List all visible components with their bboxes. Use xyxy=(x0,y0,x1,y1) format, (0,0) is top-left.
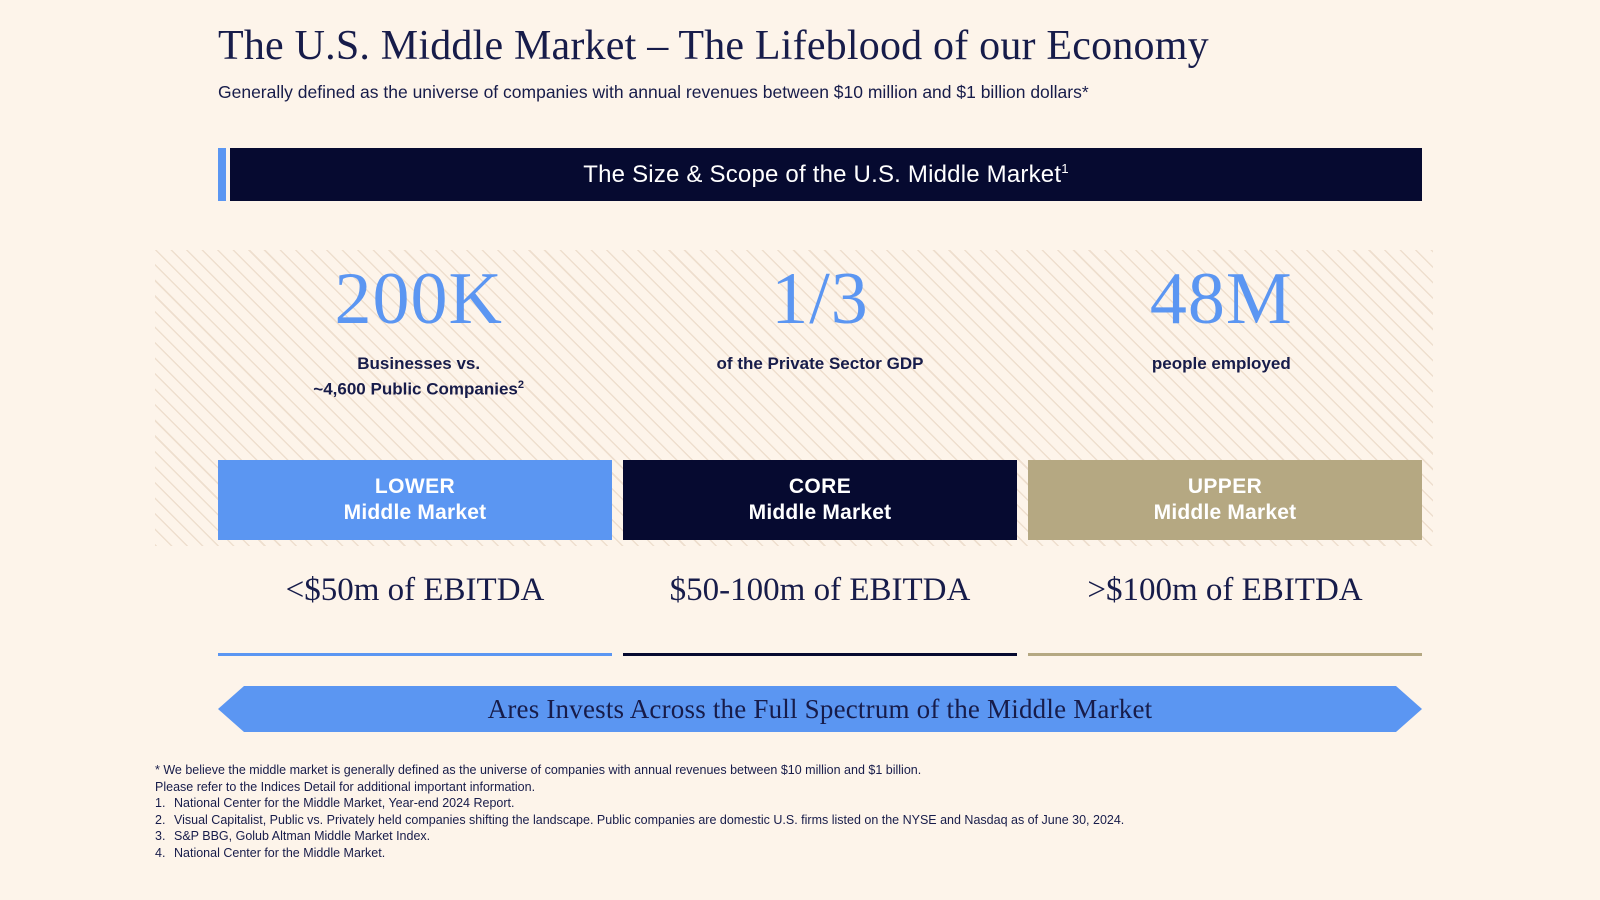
footnote-asterisk-line2: Please refer to the Indices Detail for a… xyxy=(155,779,1455,796)
footnote-item-1: 1. National Center for the Middle Market… xyxy=(155,795,1455,812)
footnote-asterisk-line1: * We believe the middle market is genera… xyxy=(155,762,1455,779)
footnote-text: Visual Capitalist, Public vs. Privately … xyxy=(174,812,1124,829)
banner-title: The Size & Scope of the U.S. Middle Mark… xyxy=(583,161,1069,189)
footnote-item-3: 3. S&P BBG, Golub Altman Middle Market I… xyxy=(155,828,1455,845)
segment-tier-label: CORE xyxy=(789,474,851,500)
ebitda-value: >$100m of EBITDA xyxy=(1087,572,1362,609)
ebitda-underline xyxy=(1028,653,1422,656)
segment-sub-label: Middle Market xyxy=(344,500,487,526)
banner-accent-bar xyxy=(218,148,226,201)
stat-label-line1: of the Private Sector GDP xyxy=(717,354,924,373)
stat-label: people employed xyxy=(1021,352,1422,377)
stat-employment: 48M people employed xyxy=(1021,262,1422,412)
segment-tier-label: LOWER xyxy=(375,474,455,500)
stat-businesses: 200K Businesses vs. ~4,600 Public Compan… xyxy=(218,262,619,412)
stat-value: 48M xyxy=(1021,262,1422,336)
spectrum-arrow-label: Ares Invests Across the Full Spectrum of… xyxy=(488,694,1153,725)
ebitda-value: <$50m of EBITDA xyxy=(286,572,545,609)
stat-label: of the Private Sector GDP xyxy=(619,352,1020,377)
statistics-row: 200K Businesses vs. ~4,600 Public Compan… xyxy=(218,262,1422,412)
footnotes-block: * We believe the middle market is genera… xyxy=(155,762,1455,862)
slide-canvas: The U.S. Middle Market – The Lifeblood o… xyxy=(0,0,1600,900)
footnote-item-2: 2. Visual Capitalist, Public vs. Private… xyxy=(155,812,1455,829)
footnote-item-4: 4. National Center for the Middle Market… xyxy=(155,845,1455,862)
page-title: The U.S. Middle Market – The Lifeblood o… xyxy=(218,22,1418,70)
segment-tier-label: UPPER xyxy=(1188,474,1262,500)
section-banner: The Size & Scope of the U.S. Middle Mark… xyxy=(218,148,1422,201)
segment-box-lower: LOWER Middle Market xyxy=(218,460,612,540)
ebitda-range-row: <$50m of EBITDA $50-100m of EBITDA >$100… xyxy=(218,572,1422,656)
stat-label-line2: ~4,600 Public Companies xyxy=(313,379,518,398)
segment-box-core: CORE Middle Market xyxy=(623,460,1017,540)
ebitda-cell-upper: >$100m of EBITDA xyxy=(1028,572,1422,656)
page-subtitle: Generally defined as the universe of com… xyxy=(218,82,1418,103)
market-segments-row: LOWER Middle Market CORE Middle Market U… xyxy=(218,460,1422,540)
banner-title-text: The Size & Scope of the U.S. Middle Mark… xyxy=(583,161,1061,188)
stat-footnote-marker: 2 xyxy=(518,379,524,391)
ebitda-cell-lower: <$50m of EBITDA xyxy=(218,572,612,656)
footnote-text: National Center for the Middle Market. xyxy=(174,845,385,862)
ebitda-value: $50-100m of EBITDA xyxy=(670,572,971,609)
stat-label-line1: Businesses vs. xyxy=(357,354,480,373)
footnote-text: National Center for the Middle Market, Y… xyxy=(174,795,514,812)
footnote-marker: 3. xyxy=(155,828,174,845)
ebitda-cell-core: $50-100m of EBITDA xyxy=(623,572,1017,656)
footnote-marker: 2. xyxy=(155,812,174,829)
footnote-text: S&P BBG, Golub Altman Middle Market Inde… xyxy=(174,828,430,845)
stat-label-line1: people employed xyxy=(1152,354,1291,373)
banner-box: The Size & Scope of the U.S. Middle Mark… xyxy=(230,148,1422,201)
spectrum-arrow-banner: Ares Invests Across the Full Spectrum of… xyxy=(218,686,1422,732)
banner-footnote-marker: 1 xyxy=(1061,161,1069,176)
footnote-marker: 4. xyxy=(155,845,174,862)
ebitda-underline xyxy=(623,653,1017,656)
stat-value: 200K xyxy=(218,262,619,336)
ebitda-underline xyxy=(218,653,612,656)
stat-gdp: 1/3 of the Private Sector GDP xyxy=(619,262,1020,412)
stat-value: 1/3 xyxy=(619,262,1020,336)
segment-sub-label: Middle Market xyxy=(1154,500,1297,526)
stat-label: Businesses vs. ~4,600 Public Companies2 xyxy=(218,352,619,402)
footnote-marker: 1. xyxy=(155,795,174,812)
segment-sub-label: Middle Market xyxy=(749,500,892,526)
segment-box-upper: UPPER Middle Market xyxy=(1028,460,1422,540)
